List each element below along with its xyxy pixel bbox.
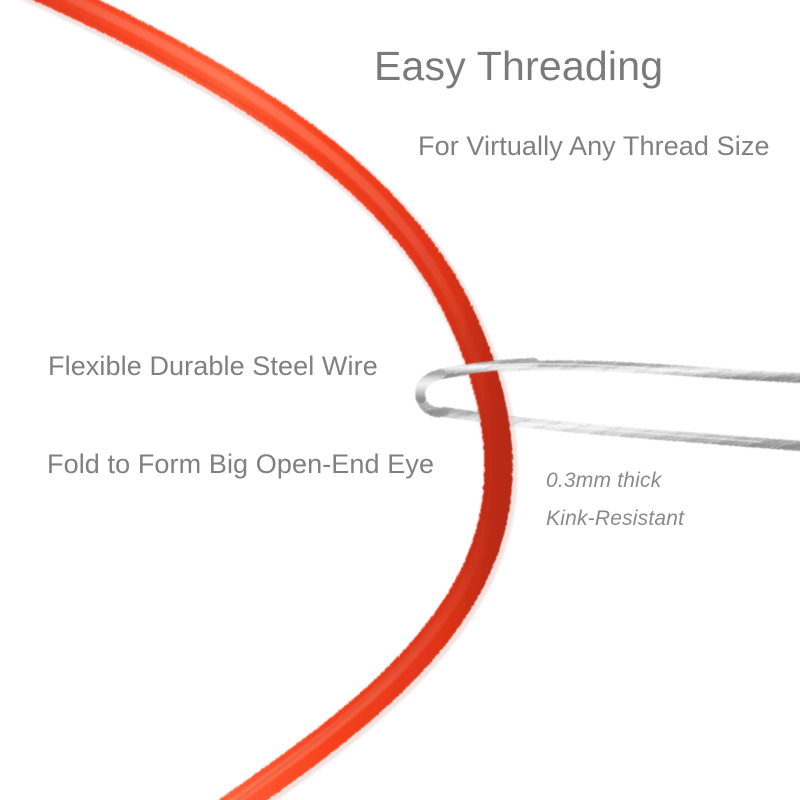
spec-kink-resistant: Kink-Resistant <box>546 508 684 530</box>
product-photo-image <box>0 0 800 800</box>
product-photo-canvas: Easy Threading For Virtually Any Thread … <box>0 0 800 800</box>
spec-thickness: 0.3mm thick <box>546 470 661 492</box>
page-title: Easy Threading <box>374 45 663 88</box>
page-subtitle: For Virtually Any Thread Size <box>418 132 770 160</box>
feature-label-open-end-eye: Fold to Form Big Open-End Eye <box>47 450 434 478</box>
feature-label-flexible-wire: Flexible Durable Steel Wire <box>48 352 378 380</box>
